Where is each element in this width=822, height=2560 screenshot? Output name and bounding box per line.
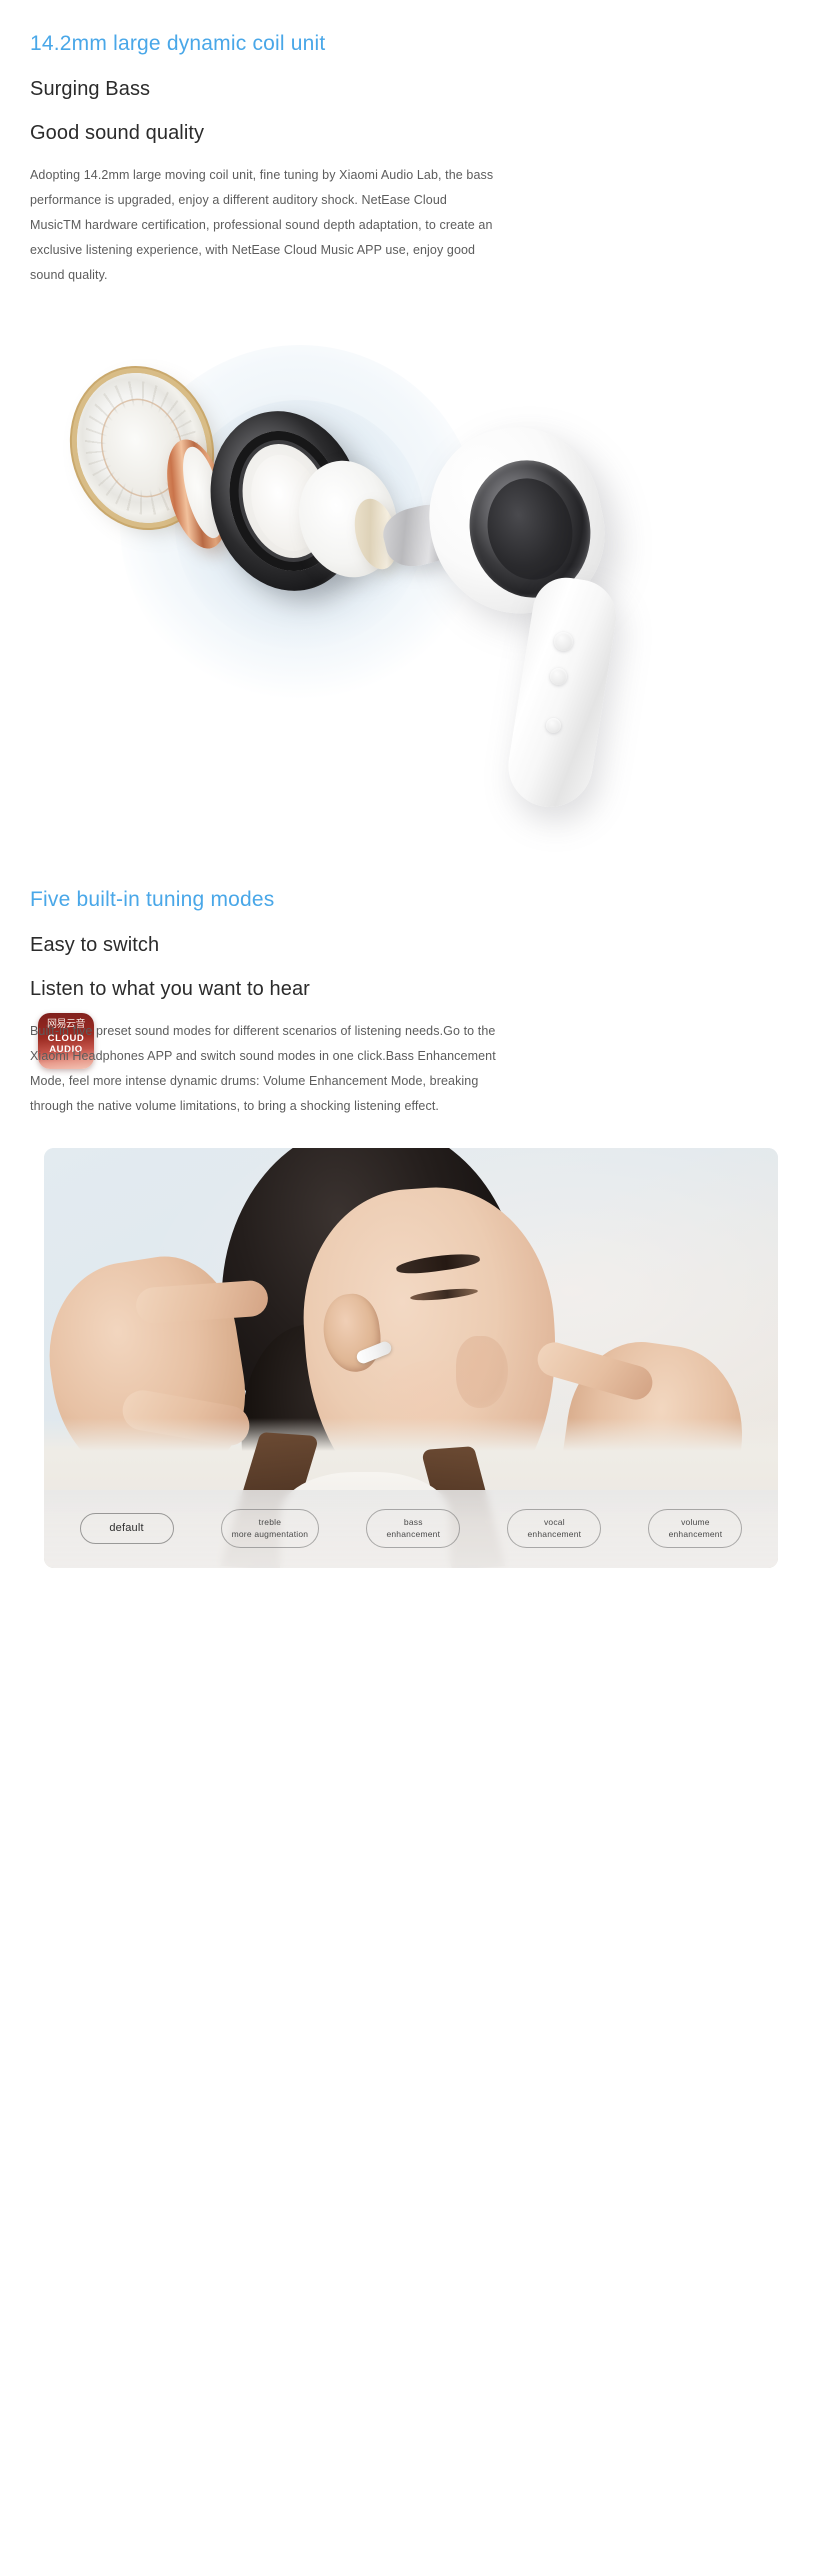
driver-exploded-view-image <box>0 310 822 830</box>
section-1-text-block: 14.2mm large dynamic coil unit Surging B… <box>0 0 822 288</box>
section-tuning-modes: Five built-in tuning modes Easy to switc… <box>0 830 822 1567</box>
tuning-mode-bar: default treble more augmentation bass en… <box>44 1490 778 1568</box>
section-2-accent-heading: Five built-in tuning modes <box>30 886 792 913</box>
section-2-sub-heading-1: Easy to switch <box>30 932 792 959</box>
mode-chip-treble-augmentation[interactable]: treble more augmentation <box>221 1509 320 1548</box>
section-1-accent-heading: 14.2mm large dynamic coil unit <box>30 30 792 57</box>
mode-chip-bass-enhancement[interactable]: bass enhancement <box>366 1509 460 1548</box>
section-1-sub-heading-1: Surging Bass <box>30 76 792 103</box>
section-2-text-block: Five built-in tuning modes Easy to switc… <box>0 886 822 1118</box>
mode-chip-default[interactable]: default <box>80 1513 174 1544</box>
section-2-sub-heading-2: Listen to what you want to hear <box>30 976 792 1003</box>
section-1-sub-heading-2: Good sound quality <box>30 120 792 147</box>
mode-chip-vocal-enhancement[interactable]: vocal enhancement <box>507 1509 601 1548</box>
section-1-body-text: Adopting 14.2mm large moving coil unit, … <box>30 163 500 288</box>
product-detail-page: 14.2mm large dynamic coil unit Surging B… <box>0 0 822 2560</box>
section-dynamic-coil: 14.2mm large dynamic coil unit Surging B… <box>0 0 822 830</box>
mode-chip-volume-enhancement[interactable]: volume enhancement <box>648 1509 742 1548</box>
model-nose <box>456 1336 508 1408</box>
section-2-body-text: Built-in five preset sound modes for dif… <box>30 1019 500 1119</box>
lifestyle-photo: default treble more augmentation bass en… <box>44 1148 778 1568</box>
